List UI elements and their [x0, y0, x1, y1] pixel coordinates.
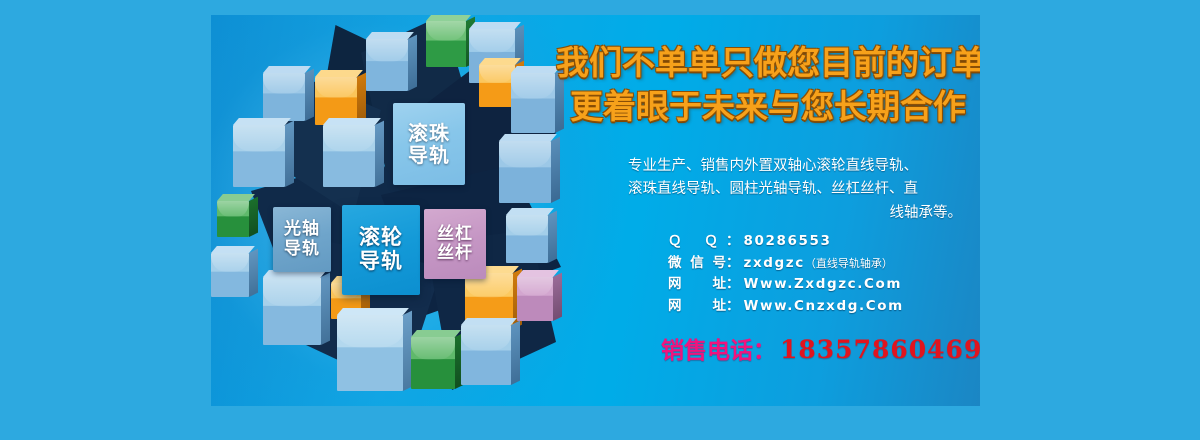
contact-colon: ： — [726, 296, 744, 317]
cube — [217, 201, 249, 237]
sales-phone-label: 销售电话： — [661, 331, 776, 365]
product-tile-ball-rail[interactable]: 滚珠 导轨 — [393, 103, 465, 185]
headline: 我们不单单只做您目前的订单 更着眼于未来与您长期合作 — [556, 41, 980, 128]
contact-row-qq: Ｑ Ｑ ： 80286553 — [668, 231, 980, 252]
cube — [263, 277, 321, 345]
tile-line-1: 丝杠 — [437, 224, 473, 244]
contact-value-wechat[interactable]: zxdgzc — [744, 253, 805, 274]
tile-line-2: 丝杆 — [437, 243, 473, 263]
cube — [499, 141, 551, 203]
product-tile-roller-rail[interactable]: 滚轮 导轨 — [342, 205, 420, 295]
cube — [337, 315, 403, 391]
headline-line-1: 我们不单单只做您目前的订单 — [556, 41, 980, 85]
contact-value-website-1[interactable]: Www.Zxdgzc.Com — [744, 274, 903, 295]
contact-colon: ： — [726, 253, 744, 274]
description-line-1: 专业生产、销售内外置双轴心滚轮直线导轨、 — [584, 155, 962, 178]
cube — [411, 337, 455, 389]
contact-key: 微信号 — [668, 253, 726, 274]
contact-row-wechat: 微信号 ： zxdgzc （直线导轨轴承） — [668, 253, 980, 274]
product-tile-lead-screw[interactable]: 丝杠 丝杆 — [424, 209, 486, 279]
cube — [366, 39, 408, 91]
banner-content: 我们不单单只做您目前的订单 更着眼于未来与您长期合作 专业生产、销售内外置双轴心… — [556, 15, 980, 406]
contact-key: 网 址 — [668, 274, 726, 295]
contact-block: Ｑ Ｑ ： 80286553 微信号 ： zxdgzc （直线导轨轴承） 网 址… — [668, 231, 980, 317]
contact-colon: ： — [726, 274, 744, 295]
contact-note-wechat: （直线导轨轴承） — [805, 256, 893, 273]
contact-value-qq[interactable]: 80286553 — [744, 231, 832, 252]
contact-row-website-2: 网 址 ： Www.Cnzxdg.Com — [668, 296, 980, 317]
cube — [323, 125, 375, 187]
tile-line-1: 光轴 — [284, 219, 320, 239]
exploding-cubes-graphic: 滚珠 导轨 光轴 导轨 滚轮 导轨 丝杠 丝杆 — [211, 15, 556, 406]
cube — [517, 277, 553, 321]
contact-key: Ｑ Ｑ — [668, 231, 726, 252]
description: 专业生产、销售内外置双轴心滚轮直线导轨、 滚珠直线导轨、圆柱光轴导轨、丝杠丝杆、… — [584, 155, 962, 225]
tile-line-2: 导轨 — [359, 249, 403, 273]
cube — [211, 253, 249, 297]
cube — [461, 325, 511, 385]
tile-line-1: 滚轮 — [359, 225, 403, 249]
cube — [506, 215, 548, 263]
contact-colon: ： — [726, 231, 744, 252]
cube — [263, 73, 305, 121]
banner-stage: 滚珠 导轨 光轴 导轨 滚轮 导轨 丝杠 丝杆 — [0, 0, 1200, 440]
cube — [511, 73, 555, 133]
tile-line-2: 导轨 — [284, 239, 320, 259]
product-tile-optical-axis[interactable]: 光轴 导轨 — [273, 207, 331, 272]
cube — [233, 125, 285, 187]
description-line-2: 滚珠直线导轨、圆柱光轴导轨、丝杠丝杆、直 — [584, 178, 962, 201]
cube — [479, 65, 515, 107]
sales-phone[interactable]: 销售电话： 18357860469 — [661, 331, 980, 365]
contact-key: 网 址 — [668, 296, 726, 317]
contact-row-website-1: 网 址 ： Www.Zxdgzc.Com — [668, 274, 980, 295]
cube — [426, 21, 466, 67]
tile-line-2: 导轨 — [408, 143, 450, 167]
sales-phone-number[interactable]: 18357860469 — [780, 335, 980, 364]
description-line-3: 线轴承等。 — [584, 202, 962, 225]
promo-banner-panel: 滚珠 导轨 光轴 导轨 滚轮 导轨 丝杠 丝杆 — [211, 15, 980, 406]
headline-line-2: 更着眼于未来与您长期合作 — [556, 85, 980, 129]
tile-line-1: 滚珠 — [408, 121, 450, 145]
contact-value-website-2[interactable]: Www.Cnzxdg.Com — [744, 296, 904, 317]
